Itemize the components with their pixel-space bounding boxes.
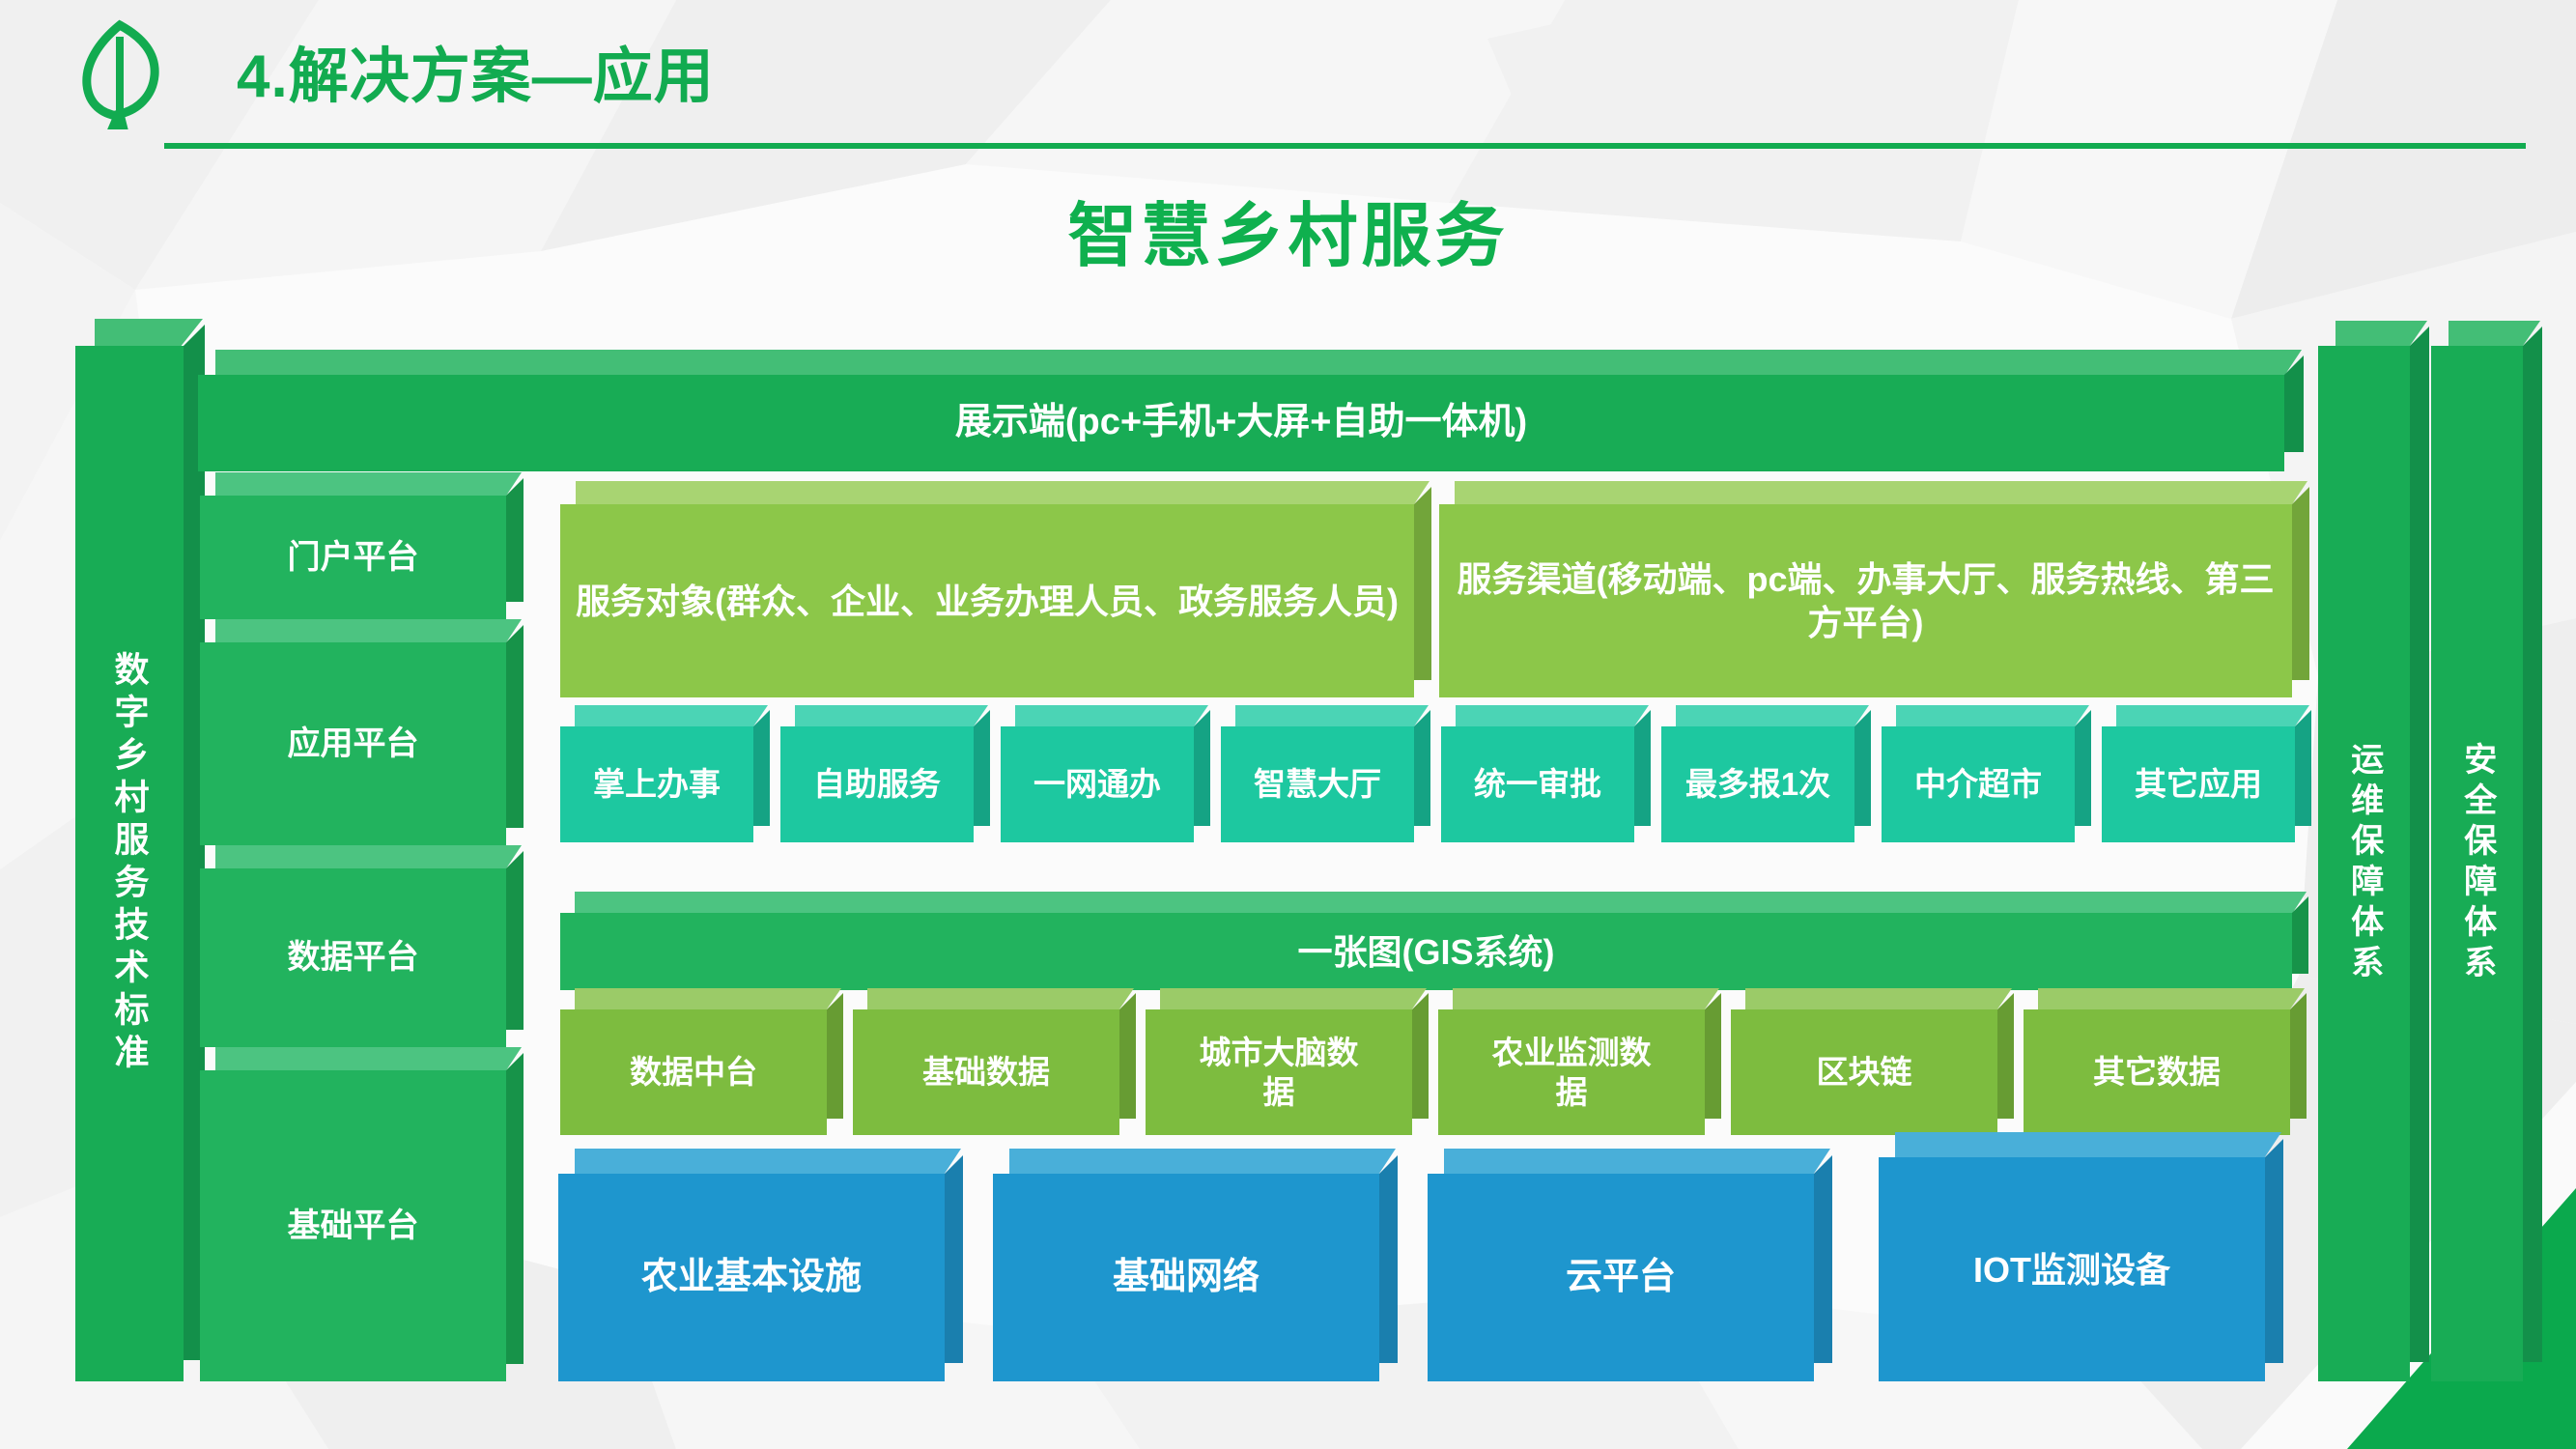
box-right-face [1414, 710, 1430, 826]
left-pillar-label: 数字乡村服务技术标准 [108, 651, 152, 1076]
box-front-face: 安全保障体系 [2431, 346, 2523, 1381]
box-right-face [945, 1155, 963, 1363]
right-pillar-ops[interactable]: 运维保障体系 [2318, 346, 2410, 1381]
box-front-face: 一张图(GIS系统) [560, 913, 2292, 990]
portal-tile-0[interactable]: 服务对象(群众、企业、业务办理人员、政务服务人员) [560, 504, 1414, 697]
box-top-face [867, 988, 1134, 1009]
box-top-face [575, 892, 2307, 913]
application-tile-3[interactable]: 智慧大厅 [1221, 726, 1414, 842]
box-right-face [1412, 993, 1429, 1119]
page-header: 4.解决方案—应用 [0, 0, 2576, 159]
box-top-face [2116, 705, 2309, 726]
left-pillar-standards[interactable]: 数字乡村服务技术标准 [75, 346, 184, 1381]
box-front-face: 掌上办事 [560, 726, 753, 842]
box-right-face [1997, 993, 2014, 1119]
gis-layer-bar[interactable]: 一张图(GIS系统) [560, 913, 2292, 990]
box-top-face [1453, 988, 1719, 1009]
box-front-face: 自助服务 [780, 726, 974, 842]
box-right-face [2523, 327, 2542, 1362]
box-top-face [1896, 705, 2089, 726]
data-tile-1[interactable]: 基础数据 [853, 1009, 1119, 1135]
row-label-portal[interactable]: 门户平台 [200, 496, 506, 619]
box-top-face [95, 319, 203, 346]
box-top-face [2449, 321, 2540, 346]
box-front-face: 服务对象(群众、企业、业务办理人员、政务服务人员) [560, 504, 1414, 697]
row-label-2: 数据平台 [288, 937, 419, 979]
box-top-face [1455, 481, 2307, 504]
box-top-face [795, 705, 988, 726]
box-right-face [2290, 993, 2307, 1119]
box-front-face: 其它数据 [2024, 1009, 2290, 1135]
row-label-application[interactable]: 应用平台 [200, 642, 506, 845]
box-top-face [215, 1047, 522, 1070]
box-top-face [575, 705, 768, 726]
box-front-face: 数字乡村服务技术标准 [75, 346, 184, 1381]
box-right-face [2265, 1139, 2283, 1363]
portal-tile-label-1: 服务渠道(移动端、pc端、办事大厅、服务热线、第三方平台) [1449, 557, 2282, 644]
box-top-face [576, 481, 1430, 504]
box-right-face [1705, 993, 1721, 1119]
box-front-face: 展示端(pc+手机+大屏+自助一体机) [198, 375, 2284, 471]
box-top-face [215, 472, 522, 496]
box-right-face [1379, 1155, 1398, 1363]
right-pillar-label-1: 安全保障体系 [2456, 742, 2498, 985]
data-tile-label-5: 其它数据 [2093, 1052, 2221, 1092]
gis-layer-label: 一张图(GIS系统) [1298, 930, 1555, 974]
application-tile-6[interactable]: 中介超市 [1882, 726, 2075, 842]
row-label-1: 应用平台 [288, 724, 419, 765]
application-tile-label-5: 最多报1次 [1685, 764, 1830, 804]
application-tile-5[interactable]: 最多报1次 [1661, 726, 1854, 842]
box-front-face: 区块链 [1731, 1009, 1997, 1135]
row-label-data[interactable]: 数据平台 [200, 868, 506, 1047]
box-top-face [2335, 321, 2427, 346]
data-tile-2[interactable]: 城市大脑数据 [1146, 1009, 1412, 1135]
infrastructure-tile-0[interactable]: 农业基本设施 [558, 1174, 945, 1381]
infrastructure-tile-label-3: IOT监测设备 [1973, 1248, 2170, 1292]
box-top-face [1235, 705, 1429, 726]
box-right-face [2075, 710, 2091, 826]
data-tile-3[interactable]: 农业监测数据 [1438, 1009, 1705, 1135]
box-right-face [506, 1053, 524, 1364]
box-top-face [1895, 1132, 2281, 1157]
box-top-face [575, 988, 841, 1009]
box-right-face [506, 625, 524, 828]
box-front-face: 数据中台 [560, 1009, 827, 1135]
portal-tile-label-0: 服务对象(群众、企业、业务办理人员、政务服务人员) [576, 580, 1399, 623]
box-top-face [1676, 705, 1869, 726]
right-pillar-security[interactable]: 安全保障体系 [2431, 346, 2523, 1381]
row-label-3: 基础平台 [288, 1206, 419, 1247]
box-right-face [1634, 710, 1651, 826]
box-front-face: 城市大脑数据 [1146, 1009, 1412, 1135]
application-tile-4[interactable]: 统一审批 [1441, 726, 1634, 842]
box-top-face [1009, 1149, 1396, 1174]
box-top-face [1745, 988, 2012, 1009]
application-tile-label-6: 中介超市 [1914, 764, 2042, 804]
box-top-face [215, 845, 522, 868]
box-top-face [2038, 988, 2305, 1009]
application-tile-0[interactable]: 掌上办事 [560, 726, 753, 842]
display-layer-bar[interactable]: 展示端(pc+手机+大屏+自助一体机) [198, 375, 2284, 471]
box-top-face [1160, 988, 1427, 1009]
row-label-0: 门户平台 [288, 537, 419, 579]
box-right-face [1119, 993, 1136, 1119]
box-front-face: 服务渠道(移动端、pc端、办事大厅、服务热线、第三方平台) [1439, 504, 2292, 697]
box-front-face: 一网通办 [1001, 726, 1194, 842]
data-tile-label-0: 数据中台 [630, 1052, 757, 1092]
application-tile-label-3: 智慧大厅 [1254, 764, 1381, 804]
right-pillar-label-0: 运维保障体系 [2343, 742, 2385, 985]
header-divider [164, 143, 2526, 149]
box-top-face [575, 1149, 961, 1174]
portal-tile-1[interactable]: 服务渠道(移动端、pc端、办事大厅、服务热线、第三方平台) [1439, 504, 2292, 697]
box-top-face [215, 619, 522, 642]
data-tile-label-1: 基础数据 [922, 1052, 1050, 1092]
data-tile-label-4: 区块链 [1817, 1052, 1912, 1092]
box-front-face: 统一审批 [1441, 726, 1634, 842]
application-tile-label-7: 其它应用 [2135, 764, 2262, 804]
data-tile-label-2: 城市大脑数据 [1197, 1033, 1361, 1113]
box-right-face [506, 478, 524, 602]
box-front-face: 基础平台 [200, 1070, 506, 1381]
box-right-face [2295, 710, 2311, 826]
leaf-icon [70, 17, 170, 129]
box-front-face: 农业基本设施 [558, 1174, 945, 1381]
infrastructure-tile-label-2: 云平台 [1566, 1255, 1676, 1301]
box-top-face [1456, 705, 1649, 726]
display-layer-label: 展示端(pc+手机+大屏+自助一体机) [955, 400, 1527, 446]
application-tile-label-1: 自助服务 [813, 764, 941, 804]
box-front-face: 农业监测数据 [1438, 1009, 1705, 1135]
infrastructure-tile-2[interactable]: 云平台 [1428, 1174, 1814, 1381]
box-front-face: 云平台 [1428, 1174, 1814, 1381]
box-right-face [2292, 487, 2309, 680]
data-tile-4[interactable]: 区块链 [1731, 1009, 1997, 1135]
box-right-face [1854, 710, 1871, 826]
box-front-face: 中介超市 [1882, 726, 2075, 842]
diagram-main-title: 智慧乡村服务 [0, 179, 2576, 280]
box-front-face: 其它应用 [2102, 726, 2295, 842]
application-tile-label-4: 统一审批 [1474, 764, 1601, 804]
box-front-face: 基础网络 [993, 1174, 1379, 1381]
box-front-face: 智慧大厅 [1221, 726, 1414, 842]
data-tile-label-3: 农业监测数据 [1489, 1033, 1654, 1113]
box-front-face: 最多报1次 [1661, 726, 1854, 842]
infrastructure-tile-label-1: 基础网络 [1113, 1255, 1260, 1301]
application-tile-7[interactable]: 其它应用 [2102, 726, 2295, 842]
box-right-face [1414, 487, 1431, 680]
application-tile-1[interactable]: 自助服务 [780, 726, 974, 842]
box-front-face: IOT监测设备 [1879, 1157, 2265, 1381]
box-right-face [506, 851, 524, 1030]
box-front-face: 应用平台 [200, 642, 506, 845]
data-tile-5[interactable]: 其它数据 [2024, 1009, 2290, 1135]
box-right-face [753, 710, 770, 826]
box-front-face: 基础数据 [853, 1009, 1119, 1135]
box-top-face [215, 350, 2302, 375]
infrastructure-tile-label-0: 农业基本设施 [641, 1255, 862, 1301]
application-tile-label-2: 一网通办 [1033, 764, 1161, 804]
application-tile-2[interactable]: 一网通办 [1001, 726, 1194, 842]
box-front-face: 数据平台 [200, 868, 506, 1047]
page-title: 4.解决方案—应用 [237, 27, 715, 114]
infrastructure-tile-1[interactable]: 基础网络 [993, 1174, 1379, 1381]
box-right-face [2410, 327, 2429, 1362]
infrastructure-tile-3[interactable]: IOT监测设备 [1879, 1157, 2265, 1381]
box-right-face [1194, 710, 1210, 826]
box-right-face [974, 710, 990, 826]
row-label-infrastructure[interactable]: 基础平台 [200, 1070, 506, 1381]
box-front-face: 运维保障体系 [2318, 346, 2410, 1381]
box-right-face [1814, 1155, 1832, 1363]
application-tile-label-0: 掌上办事 [593, 764, 721, 804]
box-top-face [1015, 705, 1208, 726]
data-tile-0[interactable]: 数据中台 [560, 1009, 827, 1135]
box-right-face [827, 993, 843, 1119]
box-front-face: 门户平台 [200, 496, 506, 619]
box-top-face [1444, 1149, 1830, 1174]
